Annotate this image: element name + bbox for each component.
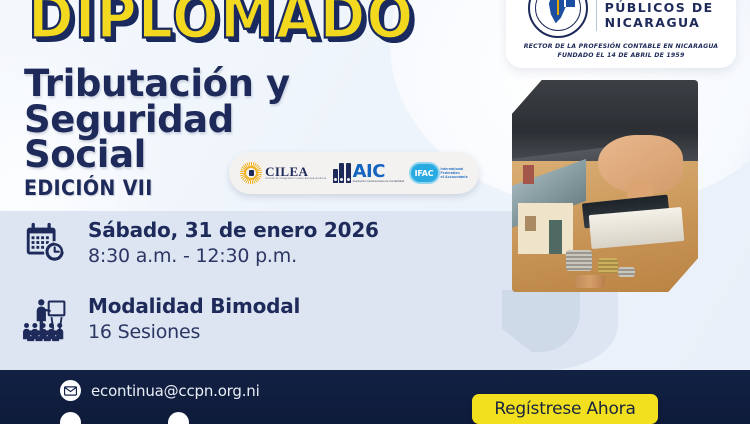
register-button-label: Regístrese Ahora: [494, 399, 635, 419]
cilea-logo-icon: CILEA Comité de Integración Latino Europ…: [240, 162, 326, 184]
crest-divider: [596, 0, 597, 31]
edition-label: EDICIÓN VII: [24, 176, 153, 201]
contact-badge-icon-1: [60, 412, 81, 424]
detail-modality-secondary: 16 Sesiones: [88, 322, 300, 343]
cilea-text: CILEA Comité de Integración Latino Europ…: [265, 165, 326, 181]
photo-house-window: [525, 216, 536, 231]
crest-book: [564, 0, 575, 7]
aic-logo-icon: AIC Asociación Interamericana de Contabi…: [333, 163, 405, 184]
aic-subtitle: Asociación Interamericana de Contabilida…: [353, 181, 405, 184]
organization-tagline-line2: FUNDADO EL 14 DE ABRIL DE 1959: [558, 52, 685, 60]
aic-bar-2: [339, 163, 344, 183]
aic-name: AIC: [353, 163, 405, 181]
contact-email[interactable]: econtinua@ccpn.org.ni: [60, 380, 260, 401]
photo-coin-stack-1: [566, 250, 592, 271]
ifac-subtitle-line3: of Accountants: [441, 175, 468, 179]
page-title-line1: Tributación y Seguridad: [24, 66, 494, 137]
detail-date-primary: Sábado, 31 de enero 2026: [88, 219, 379, 241]
ifac-mark-icon: IFAC: [411, 164, 438, 182]
detail-row-modality: Modalidad Bimodal 16 Sesiones: [18, 292, 300, 346]
organization-name: CONTADORES PÚBLICOS DE NICARAGUA: [605, 0, 715, 30]
envelope-icon: [60, 380, 81, 401]
photo-coin-stack-2: [598, 258, 618, 273]
aic-mark-icon: [333, 163, 351, 183]
organization-tagline-line1: RECTOR DE LA PROFESIÓN CONTABLE EN NICAR…: [524, 43, 719, 51]
ifac-logo-icon: IFAC International Federation of Account…: [411, 164, 468, 182]
presenter-audience-icon: [18, 292, 72, 346]
organization-logo-card: CONTADORES PÚBLICOS DE NICARAGUA RECTOR …: [506, 0, 736, 68]
aic-bar-1: [333, 169, 338, 183]
photo-coin-stack-3: [618, 267, 635, 278]
detail-modality-primary: Modalidad Bimodal: [88, 295, 300, 317]
organization-name-line3: NICARAGUA: [605, 16, 715, 31]
flyer-canvas: CONTADORES PÚBLICOS DE NICARAGUA RECTOR …: [0, 0, 750, 424]
crest-caduceus: [557, 0, 559, 15]
detail-text-modality: Modalidad Bimodal 16 Sesiones: [88, 295, 300, 343]
ifac-text: International Federation of Accountants: [441, 167, 468, 180]
detail-row-date: Sábado, 31 de enero 2026 8:30 a.m. - 12:…: [18, 216, 379, 270]
register-button[interactable]: Regístrese Ahora: [472, 394, 658, 424]
aic-text: AIC Asociación Interamericana de Contabi…: [353, 163, 405, 184]
ccpn-crest-icon: [528, 0, 588, 38]
photo-scattered-coins: [575, 275, 605, 288]
program-kicker: DIPLOMADO: [28, 0, 414, 53]
detail-text-date: Sábado, 31 de enero 2026 8:30 a.m. - 12:…: [88, 219, 379, 267]
photo-house-door: [549, 220, 562, 254]
organization-tagline: RECTOR DE LA PROFESIÓN CONTABLE EN NICAR…: [524, 43, 719, 60]
organization-name-line2: PÚBLICOS DE: [605, 1, 715, 16]
aic-bar-3: [346, 163, 351, 183]
cilea-mark-icon: [240, 162, 262, 184]
contact-secondary-1[interactable]: [60, 412, 81, 424]
contact-badge-icon-2: [168, 412, 189, 424]
detail-date-secondary: 8:30 a.m. - 12:30 p.m.: [88, 246, 379, 267]
partner-logo-strip: CILEA Comité de Integración Latino Europ…: [229, 152, 479, 194]
cilea-subtitle: Comité de Integración Latino Europa-Amér…: [265, 178, 326, 181]
photo-house-chimney: [523, 165, 534, 184]
ifac-name: IFAC: [415, 169, 434, 178]
calendar-clock-icon: [18, 216, 72, 270]
organization-logo-row: CONTADORES PÚBLICOS DE NICARAGUA: [528, 0, 715, 38]
contact-secondary-2[interactable]: [168, 412, 189, 424]
tax-calculation-photo: [512, 80, 698, 292]
contact-email-text: econtinua@ccpn.org.ni: [91, 382, 260, 400]
